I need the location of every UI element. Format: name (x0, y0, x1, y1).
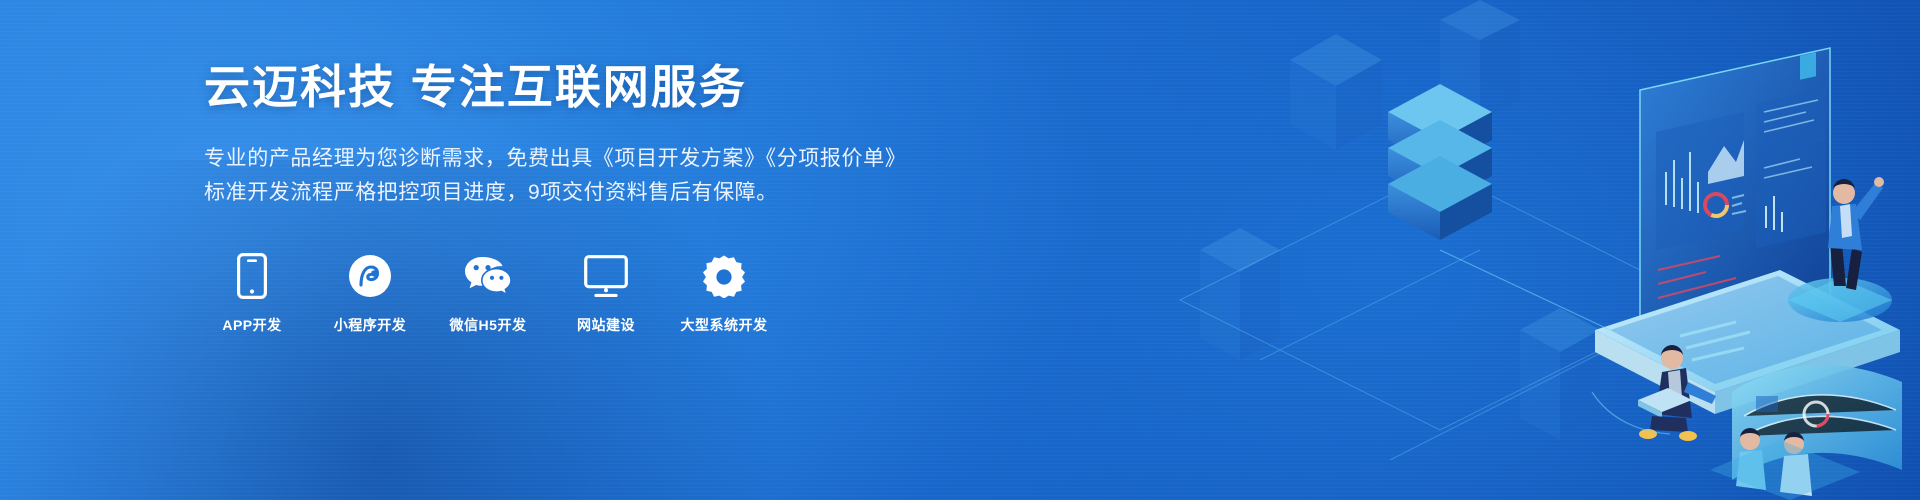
service-label: APP开发 (222, 315, 281, 335)
hero-banner: 云迈科技 专注互联网服务 专业的产品经理为您诊断需求，免费出具《项目开发方案》《… (0, 0, 1920, 500)
page-title: 云迈科技 专注互联网服务 (204, 62, 924, 114)
mobile-phone-icon (237, 253, 267, 299)
service-label: 小程序开发 (334, 315, 407, 335)
service-item-wechat[interactable]: 微信H5开发 (440, 253, 536, 335)
wechat-icon (463, 253, 513, 299)
service-item-miniprogram[interactable]: 小程序开发 (322, 253, 418, 335)
subtitle-line-1: 专业的产品经理为您诊断需求，免费出具《项目开发方案》《分项报价单》 (204, 142, 924, 177)
service-label: 微信H5开发 (450, 315, 527, 335)
service-item-website[interactable]: 网站建设 (558, 253, 654, 335)
isometric-tech-illustration (1140, 0, 1920, 500)
subtitle-block: 专业的产品经理为您诊断需求，免费出具《项目开发方案》《分项报价单》 标准开发流程… (204, 142, 924, 211)
gear-icon (702, 253, 746, 299)
service-list: APP开发 小程序开发 (204, 253, 924, 335)
service-item-app[interactable]: APP开发 (204, 253, 300, 335)
monitor-icon (584, 253, 628, 299)
service-item-system[interactable]: 大型系统开发 (676, 253, 772, 335)
mini-program-icon (348, 253, 392, 299)
service-label: 网站建设 (577, 315, 635, 335)
server-stack (1388, 84, 1492, 240)
subtitle-line-2: 标准开发流程严格把控项目进度，9项交付资料售后有保障。 (204, 176, 924, 211)
service-label: 大型系统开发 (681, 315, 768, 335)
banner-content: 云迈科技 专注互联网服务 专业的产品经理为您诊断需求，免费出具《项目开发方案》《… (204, 62, 924, 335)
